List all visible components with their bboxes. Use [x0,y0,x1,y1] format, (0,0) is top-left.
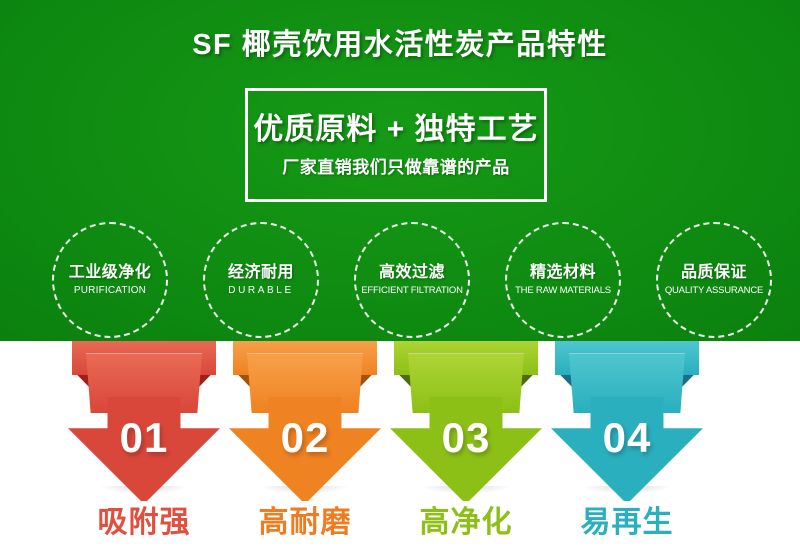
step-label-04: 易再生 [537,497,717,541]
step-number: 01 [68,417,220,459]
feature-circle-raw-materials: 精选材料 THE RAW MATERIALS [505,222,621,338]
step-arrow-04: 04 [547,341,707,501]
page-title: SF 椰壳饮用水活性炭产品特性 [0,21,800,63]
highlight-box: 优质原料 + 独特工艺 厂家直销我们只做靠谱的产品 [245,88,547,202]
highlight-main-text: 优质原料 + 独特工艺 [248,104,544,148]
promo-banner: SF 椰壳饮用水活性炭产品特性 优质原料 + 独特工艺 厂家直销我们只做靠谱的产… [0,0,800,550]
feature-circle-en-label: EFFICIENT FILTRATION [361,285,463,296]
feature-circle-en-label: THE RAW MATERIALS [515,285,611,296]
feature-circle-cn-label: 精选材料 [530,264,596,282]
step-label-01: 吸附强 [54,497,234,541]
feature-circle-cn-label: 经济耐用 [228,264,294,282]
feature-circle-purification: 工业级净化 PURIFICATION [52,222,168,338]
step-arrow-03: 03 [386,341,546,501]
feature-circle-en-label: DURABLE [228,285,293,296]
step-label-list: 吸附强 高耐磨 高净化 易再生 [0,497,800,545]
feature-circle-list: 工业级净化 PURIFICATION 经济耐用 DURABLE 高效过滤 EFF… [0,222,800,338]
feature-circle-cn-label: 品质保证 [681,264,747,282]
step-number: 04 [551,417,703,459]
step-label-03: 高净化 [376,497,556,541]
feature-circle-efficient-filtration: 高效过滤 EFFICIENT FILTRATION [354,222,470,338]
step-number: 03 [390,417,542,459]
feature-circle-en-label: PURIFICATION [74,285,146,296]
feature-circle-durable: 经济耐用 DURABLE [203,222,319,338]
step-label-02: 高耐磨 [215,497,395,541]
feature-circle-quality-assurance: 品质保证 QUALITY ASSURANCE [656,222,772,338]
step-arrow-01: 01 [64,341,224,501]
feature-circle-cn-label: 工业级净化 [69,264,152,282]
feature-circle-cn-label: 高效过滤 [379,264,445,282]
step-number: 02 [229,417,381,459]
highlight-sub-text: 厂家直销我们只做靠谱的产品 [248,153,544,178]
step-arrow-02: 02 [225,341,385,501]
feature-circle-en-label: QUALITY ASSURANCE [665,285,763,296]
